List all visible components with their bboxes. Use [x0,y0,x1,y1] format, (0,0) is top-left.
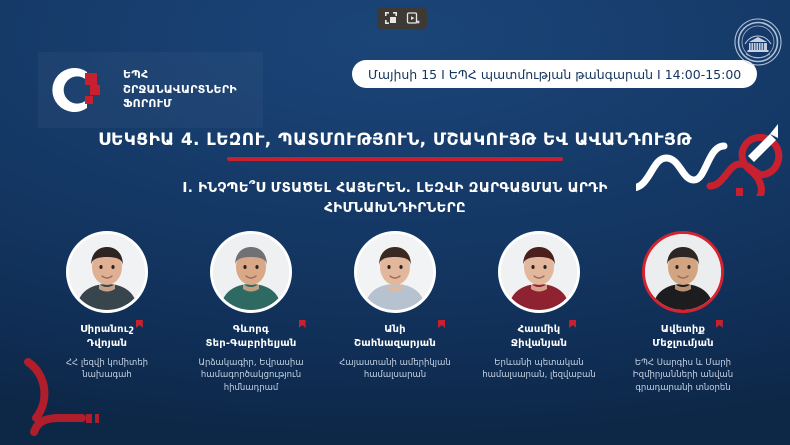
speaker-role: Հայաստանի ամերիկյան համալսարան [339,357,451,382]
speaker-card: Գևորգ Տեր-ԳաբրիելյանԱրձակագիր, Եվրասիա հ… [187,231,315,394]
screenshot-icon[interactable] [383,10,400,27]
speaker-name: Գևորգ Տեր-Գաբրիելյան [205,323,296,350]
speaker-name-wrap: Սիրանուշ Դվոյան [80,323,134,350]
speakers-row: Սիրանուշ ԴվոյանՀՀ լեզվի կոմիտեի նախագահԳ… [0,231,790,394]
screen-capture-toolbar [377,7,427,29]
red-ribbon-accent-icon [438,320,445,328]
red-ribbon-accent-icon [716,320,723,328]
page-title: ՍԵԿՑԻԱ 4. ԼԵԶՈՒ, ՊԱՏՄՈՒԹՅՈՒՆ, ՄՇԱԿՈՒՅԹ Ե… [0,130,790,150]
screen-record-icon[interactable] [405,10,422,27]
speaker-name-wrap: Ավետիք Մեջլումյան [652,323,714,350]
speaker-role: ԵՊՀ Սարգիս և Մարի Իզմիրյանների անվան գրա… [633,357,733,394]
forum-logo: ԵՊՀ ՇՐՋԱՆԱՎԱՐՏՆԵՐԻ ՖՈՐՈՒՄ [38,52,263,128]
speaker-portrait-5 [642,231,724,313]
speaker-role: ՀՀ լեզվի կոմիտեի նախագահ [66,357,148,382]
speaker-name: Անի Շահնազարյան [354,323,436,350]
speaker-name-wrap: Հասմիկ Ջիվանյան [511,323,567,350]
event-date-pill: Մայիսի 15 I ԵՊՀ պատմության թանգարան I 14… [352,60,757,88]
speaker-portrait-2 [210,231,292,313]
forum-logo-text: ԵՊՀ ՇՐՋԱՆԱՎԱՐՏՆԵՐԻ ՖՈՐՈՒՄ [123,68,237,112]
university-seal-icon [734,18,782,66]
presentation-slide: ԵՊՀ ՇՐՋԱՆԱՎԱՐՏՆԵՐԻ ՖՈՐՈՒՄ Մայիսի 15 I ԵՊ… [0,0,790,445]
red-ribbon-accent-icon [569,320,576,328]
speaker-card: Անի ՇահնազարյանՀայաստանի ամերիկյան համալ… [331,231,459,382]
title-underline-rule [227,157,563,161]
speaker-card: Սիրանուշ ԴվոյանՀՀ լեզվի կոմիտեի նախագահ [43,231,171,382]
speaker-name-wrap: Գևորգ Տեր-Գաբրիելյան [205,323,296,350]
speaker-portrait-1 [66,231,148,313]
speaker-name-wrap: Անի Շահնազարյան [354,323,436,350]
page-subtitle: I. ԻՆՉՊԵ՞Ս ՄՏԱԾԵԼ ՀԱՅԵՐԵՆ. ԼԵԶՎԻ ԶԱՐԳԱՑՄ… [115,178,675,219]
speaker-name: Սիրանուշ Դվոյան [80,323,134,350]
speaker-portrait-4 [498,231,580,313]
red-ribbon-accent-icon [299,320,306,328]
forum-logo-mark-icon [46,60,114,120]
speaker-role: Երևանի պետական համալսարան, լեզվաբան [482,357,596,382]
speaker-name: Ավետիք Մեջլումյան [652,323,714,350]
red-ribbon-accent-icon [136,320,143,328]
speaker-role: Արձակագիր, Եվրասիա համագործակցություն հի… [198,357,303,394]
speaker-card: Հասմիկ ՋիվանյանԵրևանի պետական համալսարան… [475,231,603,382]
speaker-card: Ավետիք ՄեջլումյանԵՊՀ Սարգիս և Մարի Իզմիր… [619,231,747,394]
speaker-name: Հասմիկ Ջիվանյան [511,323,567,350]
speaker-portrait-3 [354,231,436,313]
